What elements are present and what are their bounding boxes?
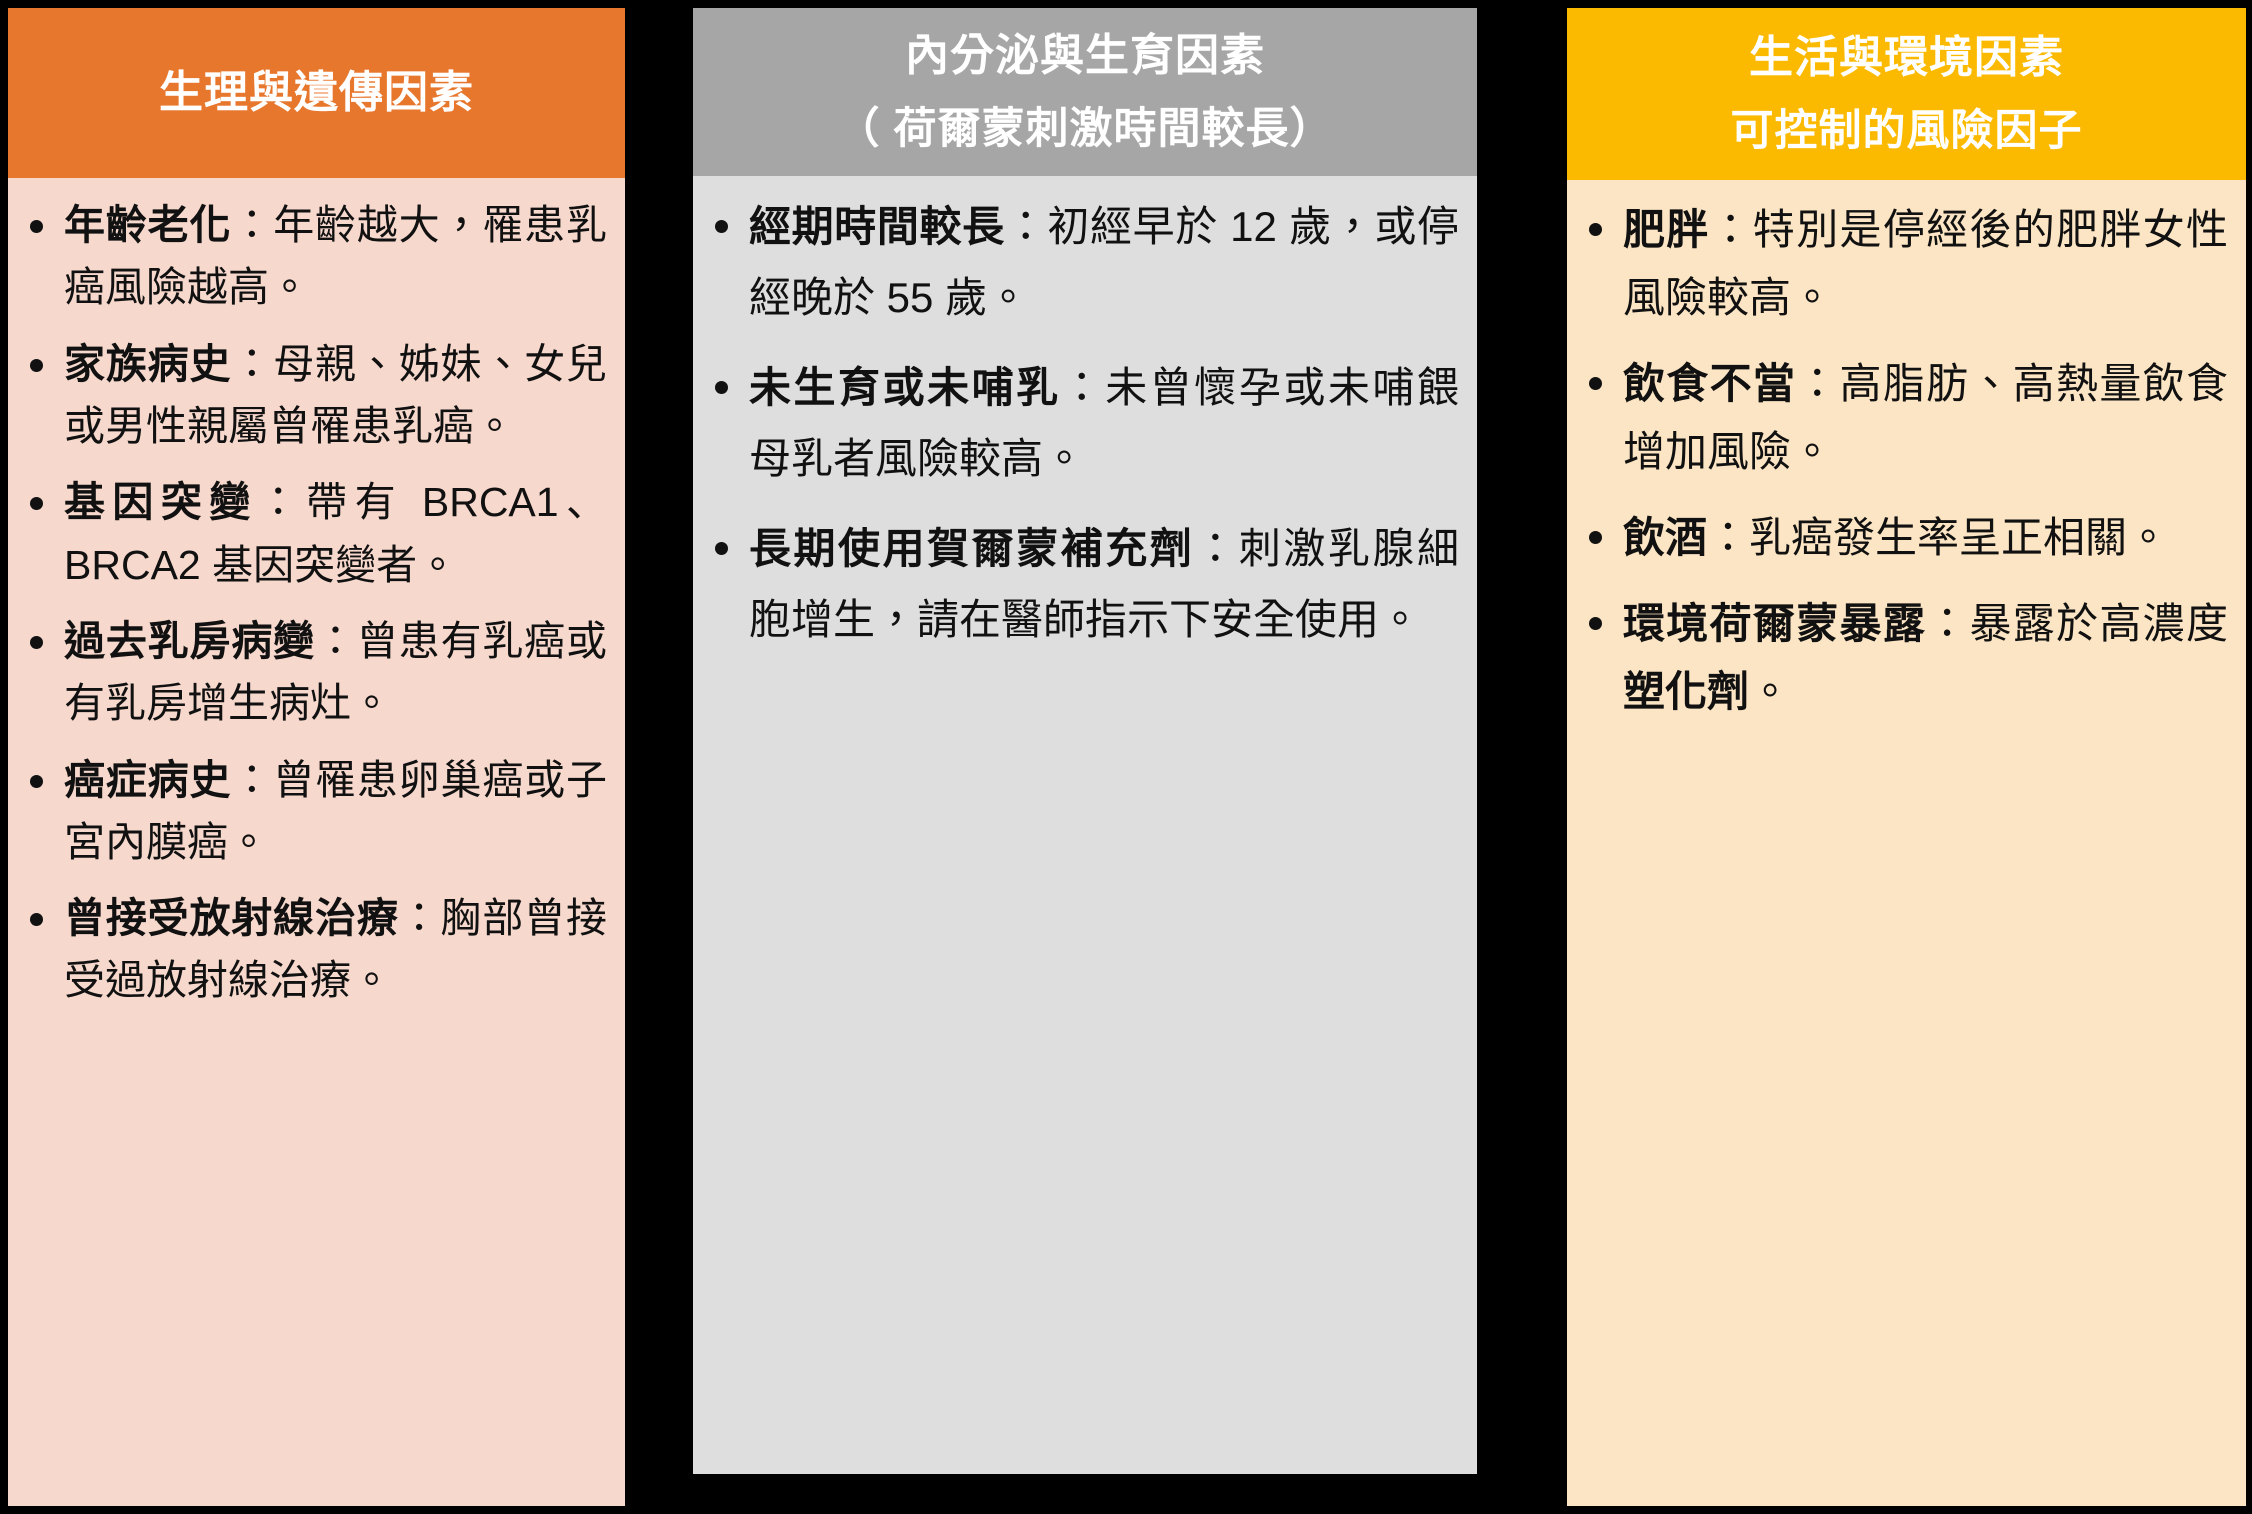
- factor-column-lifestyle-environment: 生活與環境因素可控制的風險因子肥胖：特別是停經後的肥胖女性風險較高。飲食不當：高…: [1567, 8, 2246, 1506]
- factor-list: 經期時間較長：初經早於 12 歲，或停經晚於 55 歲。未生育或未哺乳：未曾懷孕…: [703, 192, 1459, 655]
- column-title: 生活與環境因素: [1749, 28, 2064, 87]
- factor-list-item: 年齡老化：年齡越大，罹患乳癌風險越高。: [18, 194, 607, 319]
- factor-list: 肥胖：特別是停經後的肥胖女性風險較高。飲食不當：高脂肪、高熱量飲食增加風險。飲酒…: [1577, 196, 2228, 726]
- factor-separator: ：: [258, 479, 306, 525]
- factor-list-item: 經期時間較長：初經早於 12 歲，或停經晚於 55 歲。: [703, 192, 1459, 333]
- factor-description-tail: 。: [1749, 668, 1791, 715]
- risk-factor-board: 生理與遺傳因素年齡老化：年齡越大，罹患乳癌風險越高。家族病史：母親、姊妹、女兒或…: [0, 0, 2252, 1514]
- factor-list-item: 飲食不當：高脂肪、高熱量飲食增加風險。: [1577, 350, 2228, 486]
- column-header-physiological-genetic: 生理與遺傳因素: [8, 8, 625, 178]
- factor-list-item: 基因突變：帶有 BRCA1、BRCA2 基因突變者。: [18, 471, 607, 596]
- factor-term: 飲食不當: [1623, 360, 1796, 407]
- factor-list: 年齡老化：年齡越大，罹患乳癌風險越高。家族病史：母親、姊妹、女兒或男性親屬曾罹患…: [18, 194, 607, 1012]
- factor-term: 環境荷爾蒙暴露: [1623, 600, 1926, 647]
- factor-list-item: 長期使用賀爾蒙補充劑：刺激乳腺細胞增生，請在醫師指示下安全使用。: [703, 514, 1459, 655]
- column-title: 內分泌與生育因素: [905, 26, 1265, 85]
- factor-term: 未生育或未哺乳: [749, 364, 1061, 411]
- factor-separator: ：: [1926, 600, 1969, 647]
- factor-separator: ：: [231, 202, 273, 248]
- factor-list-item: 環境荷爾蒙暴露：暴露於高濃度塑化劑。: [1577, 590, 2228, 726]
- factor-term: 曾接受放射線治療: [64, 895, 399, 941]
- column-header-endocrine-reproductive: 內分泌與生育因素（ 荷爾蒙刺激時間較長）: [693, 8, 1477, 176]
- column-body-endocrine-reproductive: 經期時間較長：初經早於 12 歲，或停經晚於 55 歲。未生育或未哺乳：未曾懷孕…: [693, 176, 1477, 1474]
- column-header-lifestyle-environment: 生活與環境因素可控制的風險因子: [1567, 8, 2246, 180]
- factor-separator: ：: [231, 757, 273, 803]
- factor-description: 暴露於高濃度: [1969, 600, 2228, 647]
- column-subtitle: （ 荷爾蒙刺激時間較長）: [837, 100, 1334, 158]
- factor-term: 長期使用賀爾蒙補充劑: [749, 525, 1194, 572]
- factor-separator: ：: [1796, 360, 1839, 407]
- factor-separator: ：: [1710, 206, 1753, 253]
- factor-term: 肥胖: [1623, 206, 1710, 253]
- factor-list-item: 未生育或未哺乳：未曾懷孕或未哺餵母乳者風險較高。: [703, 353, 1459, 494]
- column-subtitle: 可控制的風險因子: [1731, 102, 2083, 160]
- factor-term: 癌症病史: [64, 757, 231, 803]
- factor-term: 家族病史: [64, 341, 231, 387]
- factor-list-item: 家族病史：母親、姊妹、女兒或男性親屬曾罹患乳癌。: [18, 333, 607, 458]
- factor-separator: ：: [399, 895, 441, 941]
- factor-separator: ：: [1005, 203, 1048, 250]
- column-body-lifestyle-environment: 肥胖：特別是停經後的肥胖女性風險較高。飲食不當：高脂肪、高熱量飲食增加風險。飲酒…: [1567, 180, 2246, 1506]
- factor-list-item: 曾接受放射線治療：胸部曾接受過放射線治療。: [18, 887, 607, 1012]
- factor-column-physiological-genetic: 生理與遺傳因素年齡老化：年齡越大，罹患乳癌風險越高。家族病史：母親、姊妹、女兒或…: [8, 8, 625, 1506]
- factor-separator: ：: [1061, 364, 1106, 411]
- factor-separator: ：: [315, 618, 357, 664]
- column-body-physiological-genetic: 年齡老化：年齡越大，罹患乳癌風險越高。家族病史：母親、姊妹、女兒或男性親屬曾罹患…: [8, 178, 625, 1506]
- factor-list-item: 飲酒：乳癌發生率呈正相關。: [1577, 504, 2228, 572]
- factor-description-emphasis: 塑化劑: [1623, 668, 1749, 715]
- factor-list-item: 癌症病史：曾罹患卵巢癌或子宮內膜癌。: [18, 749, 607, 874]
- factor-separator: ：: [1194, 525, 1239, 572]
- factor-term: 飲酒: [1623, 514, 1707, 561]
- factor-separator: ：: [1707, 514, 1749, 561]
- factor-term: 基因突變: [64, 479, 258, 525]
- column-title: 生理與遺傳因素: [159, 63, 474, 122]
- factor-term: 經期時間較長: [749, 203, 1005, 250]
- factor-column-endocrine-reproductive: 內分泌與生育因素（ 荷爾蒙刺激時間較長）經期時間較長：初經早於 12 歲，或停經…: [693, 8, 1477, 1474]
- factor-list-item: 過去乳房病變：曾患有乳癌或有乳房增生病灶。: [18, 610, 607, 735]
- factor-term: 過去乳房病變: [64, 618, 315, 664]
- factor-description: 乳癌發生率呈正相關。: [1749, 514, 2169, 561]
- factor-separator: ：: [231, 341, 273, 387]
- factor-list-item: 肥胖：特別是停經後的肥胖女性風險較高。: [1577, 196, 2228, 332]
- factor-term: 年齡老化: [64, 202, 231, 248]
